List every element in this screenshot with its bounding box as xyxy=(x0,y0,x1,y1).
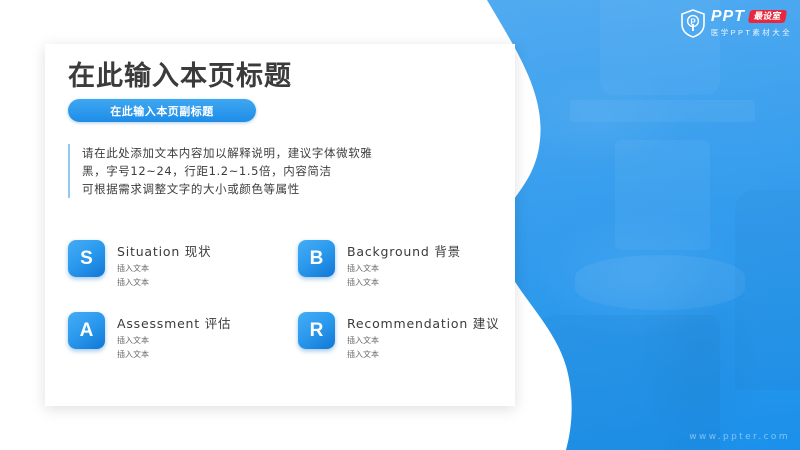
sbar-item-subline-2: 插入文本 xyxy=(117,278,211,288)
sbar-item-heading: Situation 现状 xyxy=(117,241,211,260)
logo-top-row: PPT 最设室 xyxy=(711,9,792,25)
sbar-item-assessment[interactable]: A Assessment 评估 插入文本 插入文本 xyxy=(68,312,298,384)
sbar-item-subline-1: 插入文本 xyxy=(347,264,461,274)
body-line-2: 黑，字号12~24，行距1.2~1.5倍，内容简洁 xyxy=(82,162,502,180)
body-text-block: 请在此处添加文本内容加以解释说明，建议字体微软雅 黑，字号12~24，行距1.2… xyxy=(68,144,502,198)
sbar-item-subline-2: 插入文本 xyxy=(117,350,231,360)
letter-badge-b: B xyxy=(298,240,335,277)
logo-tagline: 医学PPT素材大全 xyxy=(711,27,792,38)
page-title: 在此输入本页标题 xyxy=(68,54,292,93)
sbar-item-subline-2: 插入文本 xyxy=(347,278,461,288)
sbar-item-subline-1: 插入文本 xyxy=(117,336,231,346)
sbar-item-subline-1: 插入文本 xyxy=(117,264,211,274)
sbar-item-recommendation[interactable]: R Recommendation 建议 插入文本 插入文本 xyxy=(298,312,508,384)
brand-logo[interactable]: P PPT 最设室 医学PPT素材大全 xyxy=(680,8,792,38)
shield-icon: P xyxy=(680,9,706,38)
sbar-item-text: Background 背景 插入文本 插入文本 xyxy=(347,240,461,288)
logo-text-group: PPT 最设室 医学PPT素材大全 xyxy=(711,9,792,38)
sbar-item-situation[interactable]: S Situation 现状 插入文本 插入文本 xyxy=(68,240,298,312)
body-line-3: 可根据需求调整文字的大小或颜色等属性 xyxy=(82,180,502,198)
content-card: 在此输入本页标题 在此输入本页副标题 请在此处添加文本内容加以解释说明，建议字体… xyxy=(45,44,515,406)
letter-badge-s: S xyxy=(68,240,105,277)
sbar-item-heading: Background 背景 xyxy=(347,241,461,260)
sbar-item-text: Assessment 评估 插入文本 插入文本 xyxy=(117,312,231,360)
sbar-item-background[interactable]: B Background 背景 插入文本 插入文本 xyxy=(298,240,508,312)
sbar-item-subline-2: 插入文本 xyxy=(347,350,499,360)
subtitle-pill-label: 在此输入本页副标题 xyxy=(110,103,214,119)
subtitle-pill: 在此输入本页副标题 xyxy=(68,99,256,122)
logo-red-badge: 最设室 xyxy=(748,10,787,23)
sbar-item-heading: Assessment 评估 xyxy=(117,313,231,332)
sbar-item-text: Situation 现状 插入文本 插入文本 xyxy=(117,240,211,288)
sbar-grid: S Situation 现状 插入文本 插入文本 B Background 背景… xyxy=(68,240,508,384)
body-line-1: 请在此处添加文本内容加以解释说明，建议字体微软雅 xyxy=(82,144,502,162)
sbar-item-heading: Recommendation 建议 xyxy=(347,313,499,332)
letter-badge-r: R xyxy=(298,312,335,349)
sbar-item-text: Recommendation 建议 插入文本 插入文本 xyxy=(347,312,499,360)
sbar-item-subline-1: 插入文本 xyxy=(347,336,499,346)
letter-badge-a: A xyxy=(68,312,105,349)
site-watermark: www.ppter.com xyxy=(689,432,790,442)
slide-canvas: 在此输入本页标题 在此输入本页副标题 请在此处添加文本内容加以解释说明，建议字体… xyxy=(0,0,800,450)
logo-wordmark: PPT xyxy=(711,9,745,25)
